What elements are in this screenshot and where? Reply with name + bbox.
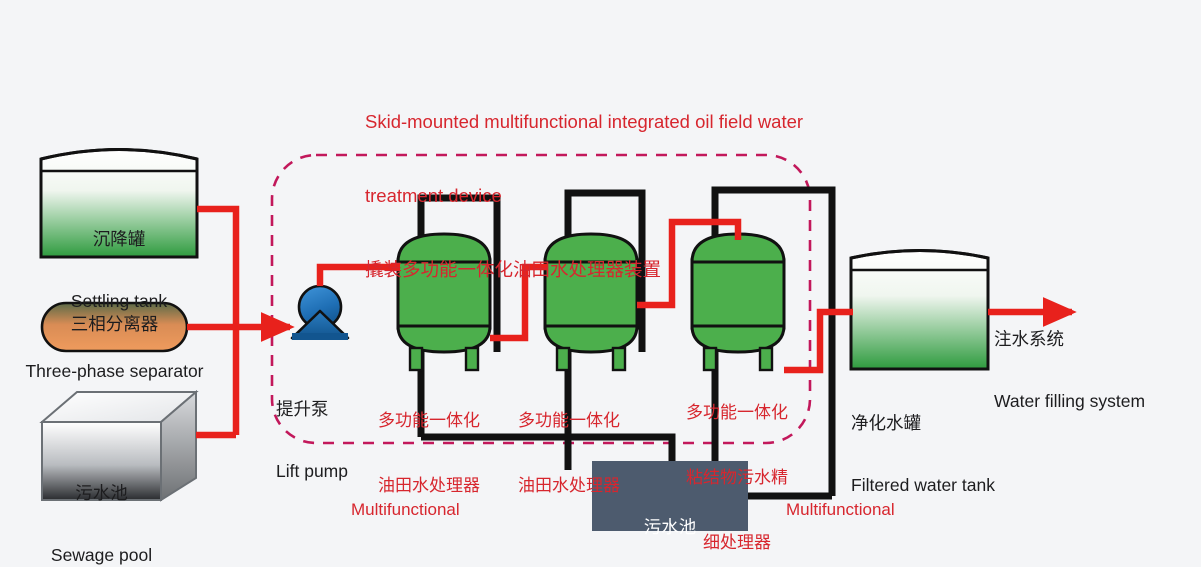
diagram-title: Skid-mounted multifunctional integrated … <box>365 61 925 332</box>
lift-pump-label: 提升泵 Lift pump <box>276 358 348 523</box>
title-en-line-1: Skid-mounted multifunctional integrated … <box>365 110 925 135</box>
title-en-line-2: treatment device <box>365 184 925 209</box>
sewage-pool-left-label-en: Sewage pool <box>40 545 163 566</box>
settling-tank-label-en: Settling tank <box>41 291 197 312</box>
left-caption-line-1: Multifunctional <box>351 498 531 522</box>
sewage-pool-bottom-label: 污水池 Sewage pool <box>592 470 748 567</box>
water-filling-system-label-zh: 注水系统 <box>994 329 1145 350</box>
settling-tank-label-zh: 沉降罐 <box>41 229 197 250</box>
filtered-water-tank-label-zh: 净化水罐 <box>851 413 995 434</box>
title-zh: 撬装多功能一体化油田水处理器装置 <box>365 258 925 283</box>
left-caption-en: Multifunctional integrated oil field wat… <box>351 450 531 567</box>
water-filling-system-label-en: Water filling system <box>994 391 1145 412</box>
water-filling-system-label: 注水系统 Water filling system <box>994 288 1145 453</box>
sewage-pool-left-label-zh: 污水池 <box>40 483 163 504</box>
lift-pump-label-en: Lift pump <box>276 461 348 482</box>
vessel-1-label-line-1: 多功能一体化 <box>378 410 480 432</box>
sewage-pool-bottom-label-zh: 污水池 <box>592 516 748 539</box>
three-phase-separator-label-zh: 三相分离器 <box>42 314 187 335</box>
vessel-3-label-line-1: 多功能一体化 <box>672 402 802 424</box>
filtered-water-tank-label-en: Filtered water tank <box>851 475 995 496</box>
three-phase-separator-label-en: Three-phase separator <box>0 361 232 382</box>
filtered-water-tank-label: 净化水罐 Filtered water tank <box>851 372 995 537</box>
diagram-labels: Skid-mounted multifunctional integrated … <box>0 0 1201 567</box>
lift-pump-label-zh: 提升泵 <box>276 399 348 420</box>
diagram-canvas: Skid-mounted multifunctional integrated … <box>0 0 1201 567</box>
vessel-2-label-line-1: 多功能一体化 <box>518 410 620 432</box>
sewage-pool-left-label: 污水池 Sewage pool <box>40 442 163 567</box>
